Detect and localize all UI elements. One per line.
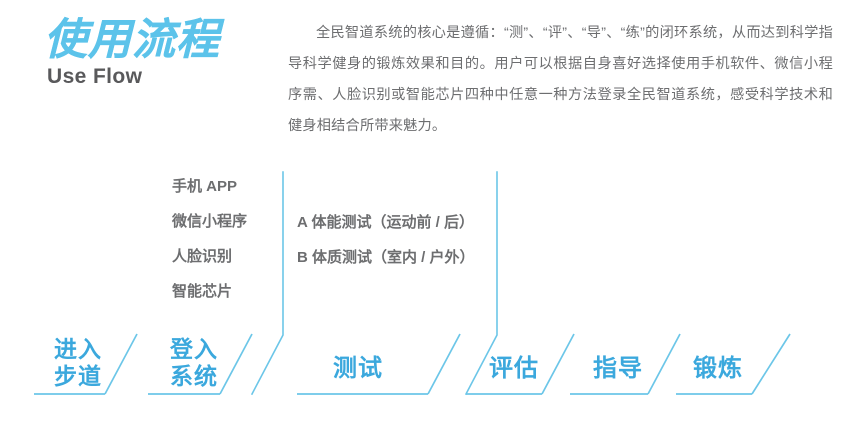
stage-label-exercise: 锻炼 [680,348,756,383]
stage-label-enter-trail: 进入 步道 [42,336,114,390]
list-item: 手机 APP [172,169,272,204]
stage-diagonal-5 [752,334,790,394]
list-item: 人脸识别 [172,239,272,274]
stage-label-test: 测试 [320,348,396,383]
page-title: 使用流程 [44,16,220,64]
stage-line: 进入 [42,336,114,363]
stage-line: 登入 [158,336,230,363]
page-subtitle: Use Flow [47,64,142,90]
list-item: 智能芯片 [172,274,272,309]
login-methods-list: 手机 APP 微信小程序 人脸识别 智能芯片 [172,169,272,309]
use-flow-page: 使用流程 Use Flow 全民智道系统的核心是遵循：“测”、“评”、“导”、“… [0,0,851,442]
stage-line: 系统 [158,363,230,390]
list-item: 微信小程序 [172,204,272,239]
test-types-list: A 体能测试（运动前 / 后） B 体质测试（室内 / 户外） [297,205,487,275]
intro-paragraph: 全民智道系统的核心是遵循：“测”、“评”、“导”、“练”的闭环系统，从而达到科学… [288,18,833,142]
stage-label-guide: 指导 [580,348,656,383]
list-item: A 体能测试（运动前 / 后） [297,205,487,240]
stage-diagonal-2 [428,334,460,394]
stage-label-evaluate: 评估 [476,348,552,383]
list-item: B 体质测试（室内 / 户外） [297,240,487,275]
stage-line: 步道 [42,363,114,390]
stage-label-login-system: 登入 系统 [158,336,230,390]
